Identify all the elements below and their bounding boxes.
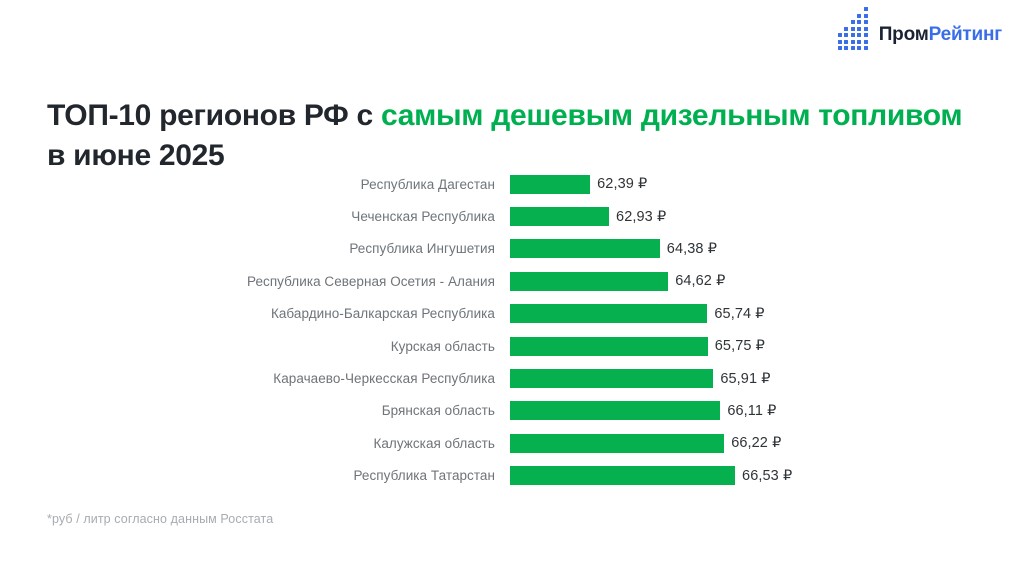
logo-dot: [857, 27, 861, 31]
bar-container: 66,22 ₽: [510, 427, 781, 459]
logo-dot: [857, 20, 861, 24]
chart-row: Республика Татарстан66,53 ₽: [0, 460, 1030, 492]
category-label: Курская область: [0, 339, 495, 354]
bar-value-label: 65,91 ₽: [720, 371, 770, 387]
category-label: Республика Дагестан: [0, 177, 495, 192]
logo-dot: [838, 40, 842, 44]
logo-dot: [851, 20, 855, 24]
chart-row: Брянская область66,11 ₽: [0, 395, 1030, 427]
chart-row: Республика Дагестан62,39 ₽: [0, 168, 1030, 200]
bar[interactable]: [510, 337, 708, 356]
logo-dot: [857, 14, 861, 18]
logo-dot: [851, 40, 855, 44]
logo-dot: [864, 40, 868, 44]
logo-dot: [851, 46, 855, 50]
bar[interactable]: [510, 304, 707, 323]
brand-logo: ПромРейтинг: [838, 20, 1002, 50]
bar-container: 64,38 ₽: [510, 233, 717, 265]
chart-row: Курская область65,75 ₽: [0, 330, 1030, 362]
bar-value-label: 64,38 ₽: [667, 241, 717, 257]
bar[interactable]: [510, 272, 668, 291]
chart-row: Калужская область66,22 ₽: [0, 427, 1030, 459]
bar[interactable]: [510, 207, 609, 226]
logo-dot-column: [838, 33, 842, 50]
logo-dot: [864, 7, 868, 11]
bar[interactable]: [510, 434, 724, 453]
chart-footnote: *руб / литр согласно данным Росстата: [47, 512, 273, 526]
bar-value-label: 66,22 ₽: [731, 435, 781, 451]
bar-container: 66,11 ₽: [510, 395, 777, 427]
chart-row: Карачаево-Черкесская Республика65,91 ₽: [0, 362, 1030, 394]
logo-dot: [844, 40, 848, 44]
logo-dot-column: [851, 20, 855, 50]
category-label: Карачаево-Черкесская Республика: [0, 371, 495, 386]
title-segment-1: ТОП-10 регионов РФ с: [47, 99, 381, 132]
logo-dot-column: [857, 14, 861, 51]
category-label: Брянская область: [0, 403, 495, 418]
logo-dot: [864, 27, 868, 31]
bar-container: 62,93 ₽: [510, 200, 666, 232]
logo-dot: [844, 33, 848, 37]
bar-container: 64,62 ₽: [510, 265, 725, 297]
bar-value-label: 62,93 ₽: [616, 209, 666, 225]
brand-name-reyting: Рейтинг: [929, 24, 1002, 45]
ascending-dots-bar-icon: [838, 20, 868, 50]
brand-name: ПромРейтинг: [879, 24, 1002, 46]
logo-dot: [844, 27, 848, 31]
bar-value-label: 62,39 ₽: [597, 176, 647, 192]
logo-dot: [864, 46, 868, 50]
page-title: ТОП-10 регионов РФ с самым дешевым дизел…: [47, 96, 977, 176]
bar-value-label: 66,11 ₽: [727, 403, 776, 419]
logo-dot: [864, 20, 868, 24]
logo-dot: [838, 33, 842, 37]
logo-dot: [857, 33, 861, 37]
bar-container: 62,39 ₽: [510, 168, 647, 200]
logo-dot: [851, 33, 855, 37]
brand-name-prom: Пром: [879, 24, 929, 45]
bar-value-label: 65,75 ₽: [715, 338, 765, 354]
bar-container: 65,74 ₽: [510, 298, 765, 330]
category-label: Республика Ингушетия: [0, 241, 495, 256]
category-label: Республика Северная Осетия - Алания: [0, 274, 495, 289]
bar-chart: Республика Дагестан62,39 ₽Чеченская Респ…: [0, 168, 1030, 492]
logo-dot: [844, 46, 848, 50]
bar-container: 65,91 ₽: [510, 362, 771, 394]
bar-value-label: 64,62 ₽: [675, 273, 725, 289]
logo-dot-column: [844, 27, 848, 51]
bar-value-label: 66,53 ₽: [742, 468, 792, 484]
logo-dot: [864, 14, 868, 18]
chart-row: Республика Северная Осетия - Алания64,62…: [0, 265, 1030, 297]
title-segment-highlight: самым дешевым дизельным топливом: [381, 99, 962, 132]
category-label: Чеченская Республика: [0, 209, 495, 224]
category-label: Кабардино-Балкарская Республика: [0, 306, 495, 321]
chart-row: Чеченская Республика62,93 ₽: [0, 200, 1030, 232]
logo-dot-column: [864, 7, 868, 50]
logo-dot: [864, 33, 868, 37]
bar[interactable]: [510, 466, 735, 485]
bar[interactable]: [510, 175, 590, 194]
bar-container: 66,53 ₽: [510, 460, 792, 492]
bar[interactable]: [510, 401, 720, 420]
category-label: Калужская область: [0, 436, 495, 451]
bar[interactable]: [510, 369, 713, 388]
bar[interactable]: [510, 239, 660, 258]
category-label: Республика Татарстан: [0, 468, 495, 483]
logo-dot: [851, 27, 855, 31]
logo-dot: [857, 40, 861, 44]
logo-dot: [838, 46, 842, 50]
chart-row: Кабардино-Балкарская Республика65,74 ₽: [0, 298, 1030, 330]
chart-row: Республика Ингушетия64,38 ₽: [0, 233, 1030, 265]
logo-dot: [857, 46, 861, 50]
bar-value-label: 65,74 ₽: [714, 306, 764, 322]
bar-container: 65,75 ₽: [510, 330, 765, 362]
